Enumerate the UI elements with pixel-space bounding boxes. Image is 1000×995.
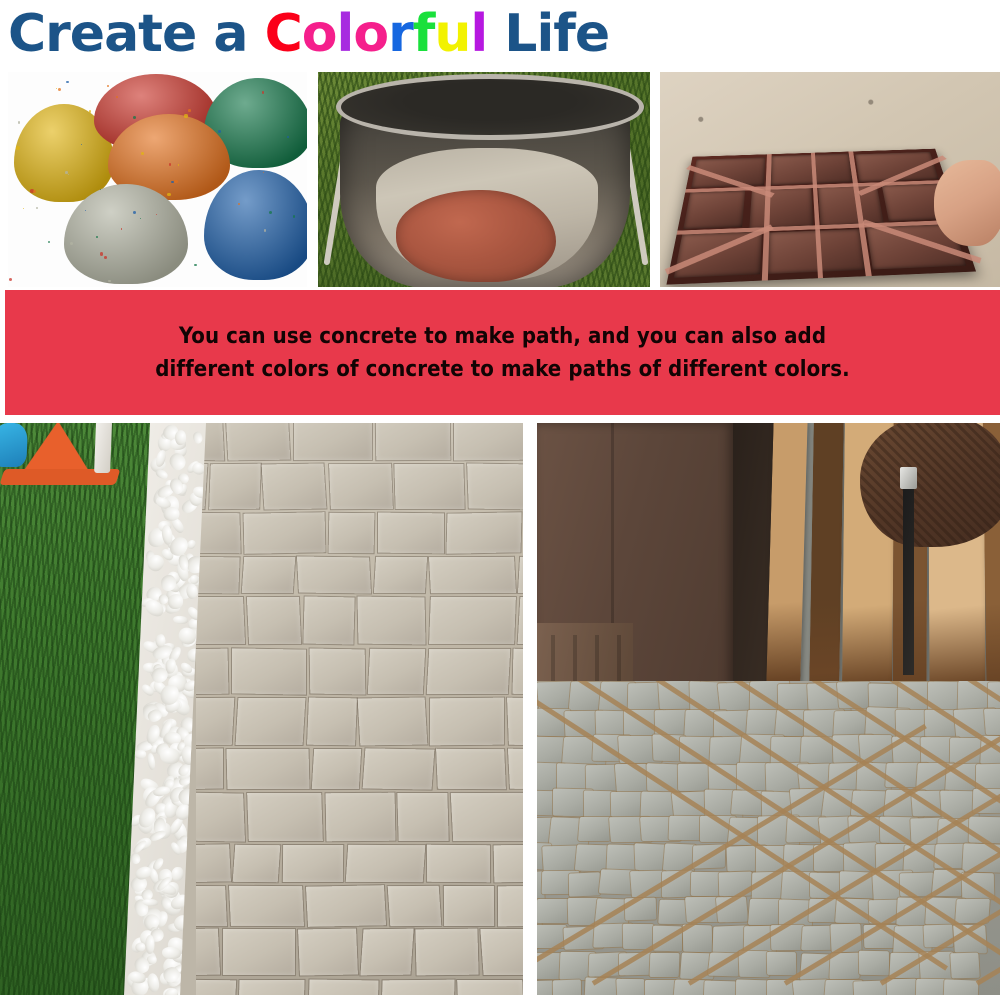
paving-stone — [447, 512, 523, 554]
paving-stone — [209, 463, 260, 509]
pigment-speck — [58, 88, 62, 92]
paving-stone — [368, 648, 425, 694]
paving-stone — [378, 512, 444, 553]
paving-stone — [457, 979, 523, 995]
cobblestone — [915, 979, 946, 995]
pebble — [154, 468, 169, 481]
paving-stone — [512, 648, 523, 694]
title-segment-1: C — [265, 4, 302, 64]
pigment-speck — [194, 264, 196, 266]
paving-stone — [226, 749, 309, 789]
pebble — [135, 943, 145, 952]
paving-stone — [196, 885, 227, 925]
paving-stone — [196, 929, 220, 976]
cobblestone — [950, 952, 980, 978]
paving-stone — [345, 845, 424, 882]
paving-stone — [494, 844, 523, 882]
paving-stone — [226, 423, 291, 460]
cobblestone — [887, 979, 918, 995]
paving-stone — [196, 513, 241, 554]
page-title: Create a Colorful Life — [8, 2, 992, 66]
paving-stone — [467, 463, 523, 509]
mold-cell — [683, 191, 745, 230]
title-segment-0: Create a — [8, 4, 265, 64]
paving-stone — [297, 557, 371, 594]
paving-stone — [373, 557, 427, 594]
paving-stone — [196, 597, 245, 644]
title-segment-6: f — [413, 4, 435, 64]
banner-line-1: You can use concrete to make path, and y… — [179, 320, 826, 353]
pigment-speck — [169, 163, 171, 165]
pigment-speck — [89, 110, 92, 113]
pigment-speck — [218, 130, 221, 133]
paving-stone — [310, 648, 366, 694]
pigment-speck — [100, 252, 104, 256]
cobblestone — [611, 792, 643, 817]
paving-stone — [196, 979, 237, 995]
pigment-pile-blue — [204, 170, 307, 280]
paving-stone — [358, 698, 427, 746]
paving-stone — [375, 423, 450, 460]
pebble — [146, 753, 156, 771]
paving-stone — [427, 649, 510, 695]
paving-stone — [498, 885, 523, 925]
pigment-speck — [263, 172, 264, 173]
paving-stone — [518, 557, 523, 594]
paving-stone — [306, 885, 386, 926]
pigment-speck — [18, 121, 20, 123]
paving-stone — [430, 698, 504, 746]
pigment-speck — [116, 96, 118, 98]
product-infographic-page: Create a Colorful Life You can use concr… — [0, 0, 1000, 995]
cobblestone — [537, 980, 554, 995]
paving-stone — [436, 749, 506, 789]
cobblestone — [569, 872, 600, 896]
cobblestone — [801, 926, 834, 950]
title-segment-3: l — [337, 4, 354, 64]
pigment-speck — [107, 85, 109, 87]
paving-stone — [303, 597, 355, 645]
paving-stone — [480, 929, 523, 975]
title-segment-7: u — [434, 4, 470, 64]
paving-stone — [398, 793, 449, 841]
pigment-speck — [174, 180, 178, 184]
paving-stone — [325, 793, 395, 842]
pigment-speck — [108, 280, 111, 283]
paving-stone — [454, 423, 523, 460]
red-pigment-slurry — [396, 190, 556, 282]
paving-stone — [232, 648, 306, 695]
pigment-speck — [184, 114, 187, 117]
mold-cell — [818, 185, 884, 227]
pigment-speck — [133, 116, 136, 119]
paving-stone — [247, 597, 302, 645]
paving-stone — [429, 557, 516, 594]
pigment-speck — [9, 278, 12, 281]
paving-stone — [329, 463, 392, 509]
paving-stone — [242, 557, 296, 594]
paving-stone — [381, 979, 454, 995]
paving-stone — [223, 929, 295, 976]
title-segment-4: o — [353, 4, 388, 64]
paving-stone — [358, 597, 426, 645]
cobblestone — [984, 709, 1000, 735]
paving-stone — [247, 793, 322, 841]
paving-stone — [308, 979, 378, 995]
cobblestone — [578, 817, 612, 841]
paving-stone — [229, 885, 304, 925]
paving-stone — [360, 929, 413, 976]
garden-path-photo — [0, 423, 523, 995]
paving-stone — [233, 845, 280, 882]
paving-stone — [415, 929, 478, 976]
tool-head — [900, 467, 917, 489]
paving-mold — [666, 149, 976, 285]
pigment-speck — [264, 229, 267, 232]
cobblestone — [553, 979, 582, 995]
paving-stone — [283, 845, 343, 882]
paving-stone — [507, 698, 523, 745]
paving-stone — [429, 597, 516, 644]
paving-stone — [451, 793, 523, 841]
bucket-mixing-photo — [318, 72, 650, 287]
pigment-speck — [16, 146, 20, 150]
paving-stone — [196, 648, 228, 694]
paving-stone — [298, 929, 358, 976]
cobblestone — [767, 952, 796, 976]
paving-stone — [244, 512, 326, 554]
cobblestone — [649, 953, 679, 977]
paving-stone — [395, 464, 465, 509]
paving-stone — [427, 845, 490, 882]
cobblestone — [703, 981, 736, 995]
pebble — [167, 594, 183, 609]
pigment-speck — [23, 208, 24, 209]
hand — [934, 160, 1000, 246]
title-segment-9: Life — [487, 4, 609, 64]
traffic-cone — [22, 423, 92, 473]
title-segment-2: o — [302, 4, 337, 64]
pigment-speck — [133, 211, 136, 214]
paving-stone — [387, 885, 441, 925]
paving-stone — [196, 792, 245, 841]
pebble — [130, 851, 142, 864]
paving-stone — [311, 749, 360, 789]
pigment-speck — [141, 152, 144, 155]
paving-stone — [196, 748, 223, 789]
paving-stone — [294, 423, 372, 460]
title-segment-8: l — [470, 4, 487, 64]
white-post — [94, 423, 112, 473]
paving-stone — [307, 698, 356, 746]
paving-stone — [444, 886, 494, 926]
paving-stone — [362, 748, 434, 789]
pebble — [175, 429, 186, 445]
cobblestone — [616, 979, 645, 995]
top-image-strip — [0, 72, 1000, 287]
paving-stone — [508, 749, 523, 790]
pigment-speck — [100, 189, 101, 190]
pigment-speck — [56, 88, 57, 89]
pebble — [145, 934, 154, 954]
pigment-speck — [81, 144, 82, 145]
bucket-rim — [336, 74, 644, 140]
pigment-speck — [293, 215, 295, 217]
pebble — [171, 867, 184, 882]
paving-stone — [518, 597, 523, 644]
stone-path — [196, 423, 523, 995]
pigment-speck — [167, 193, 170, 196]
pebble — [193, 431, 205, 445]
pebble — [173, 615, 190, 625]
cobblestone — [944, 979, 978, 995]
paving-stone — [328, 513, 373, 554]
pigment-speck — [188, 109, 191, 112]
brown-wall — [537, 423, 733, 693]
paving-stone — [196, 844, 231, 882]
pigment-speck — [66, 81, 68, 83]
draped-fabric — [860, 423, 1000, 547]
cobblestone — [747, 899, 781, 925]
pigment-speck — [48, 241, 50, 243]
pigment-speck — [171, 181, 173, 183]
cobblestone — [739, 951, 770, 978]
paving-stone — [262, 463, 327, 509]
paving-stone — [196, 557, 240, 594]
cobblestone-paving — [537, 681, 1000, 995]
pebble — [134, 749, 147, 758]
bottom-image-row — [0, 423, 1000, 995]
tool-handle — [903, 475, 914, 675]
banner-line-2: different colors of concrete to make pat… — [155, 353, 850, 386]
paving-stone — [235, 698, 305, 745]
description-banner: You can use concrete to make path, and y… — [5, 290, 1000, 415]
cobblestone — [859, 951, 889, 976]
pigment-speck — [65, 171, 68, 174]
title-segment-5: r — [388, 4, 413, 64]
pigment-speck — [36, 207, 38, 209]
paving-stone — [239, 979, 305, 995]
paving-stone — [196, 698, 234, 745]
paving-mold-photo — [660, 72, 1000, 287]
patio-cobble-photo — [537, 423, 1000, 995]
pigment-powders-photo — [8, 72, 307, 287]
